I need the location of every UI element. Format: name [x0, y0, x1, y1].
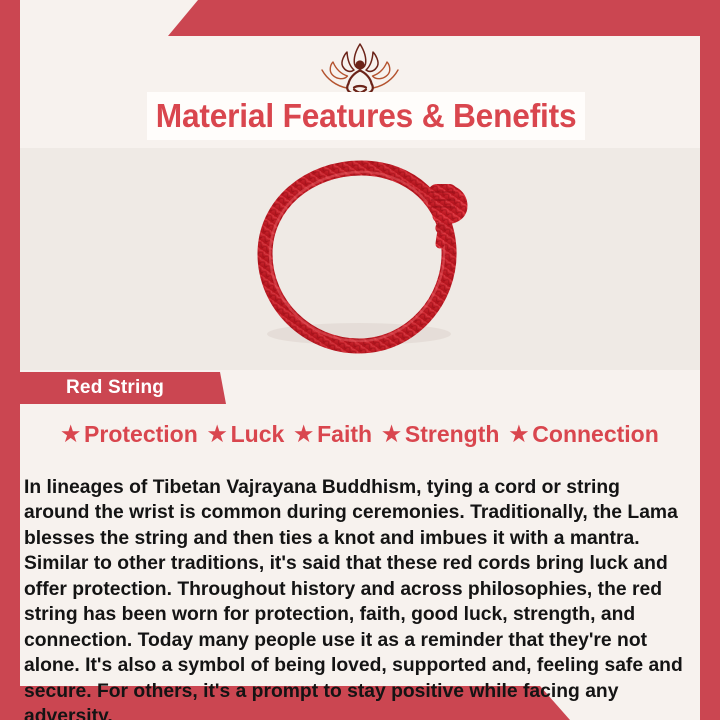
product-photo [20, 148, 700, 370]
benefit-label: Connection [532, 421, 659, 448]
benefit-label: Luck [231, 421, 285, 448]
header: BUDDHA STONES Material Features & Benefi… [20, 36, 700, 148]
benefit-connection: ★ Connection [509, 421, 658, 448]
red-string-bracelet-image [235, 154, 485, 364]
benefit-strength: ★ Strength [382, 421, 499, 448]
infographic-page: BUDDHA STONES Material Features & Benefi… [0, 0, 720, 720]
left-red-border [0, 0, 20, 720]
star-icon: ★ [61, 424, 80, 445]
star-icon: ★ [509, 424, 528, 445]
benefits-row: ★ Protection ★ Luck ★ Faith ★ Strength ★… [20, 414, 700, 454]
product-banner-label: Red String [66, 377, 164, 399]
benefit-faith: ★ Faith [294, 421, 372, 448]
star-icon: ★ [294, 424, 313, 445]
right-red-border [700, 0, 720, 720]
star-icon: ★ [382, 424, 401, 445]
benefit-label: Protection [84, 421, 198, 448]
benefit-luck: ★ Luck [208, 421, 285, 448]
description-text: In lineages of Tibetan Vajrayana Buddhis… [24, 475, 686, 720]
benefit-label: Faith [317, 421, 372, 448]
product-banner: Red String [20, 372, 230, 404]
star-icon: ★ [208, 424, 227, 445]
page-title-box: Material Features & Benefits [147, 92, 585, 140]
benefit-protection: ★ Protection [61, 421, 198, 448]
page-title: Material Features & Benefits [156, 97, 577, 135]
benefit-label: Strength [405, 421, 500, 448]
top-red-band [0, 0, 720, 36]
